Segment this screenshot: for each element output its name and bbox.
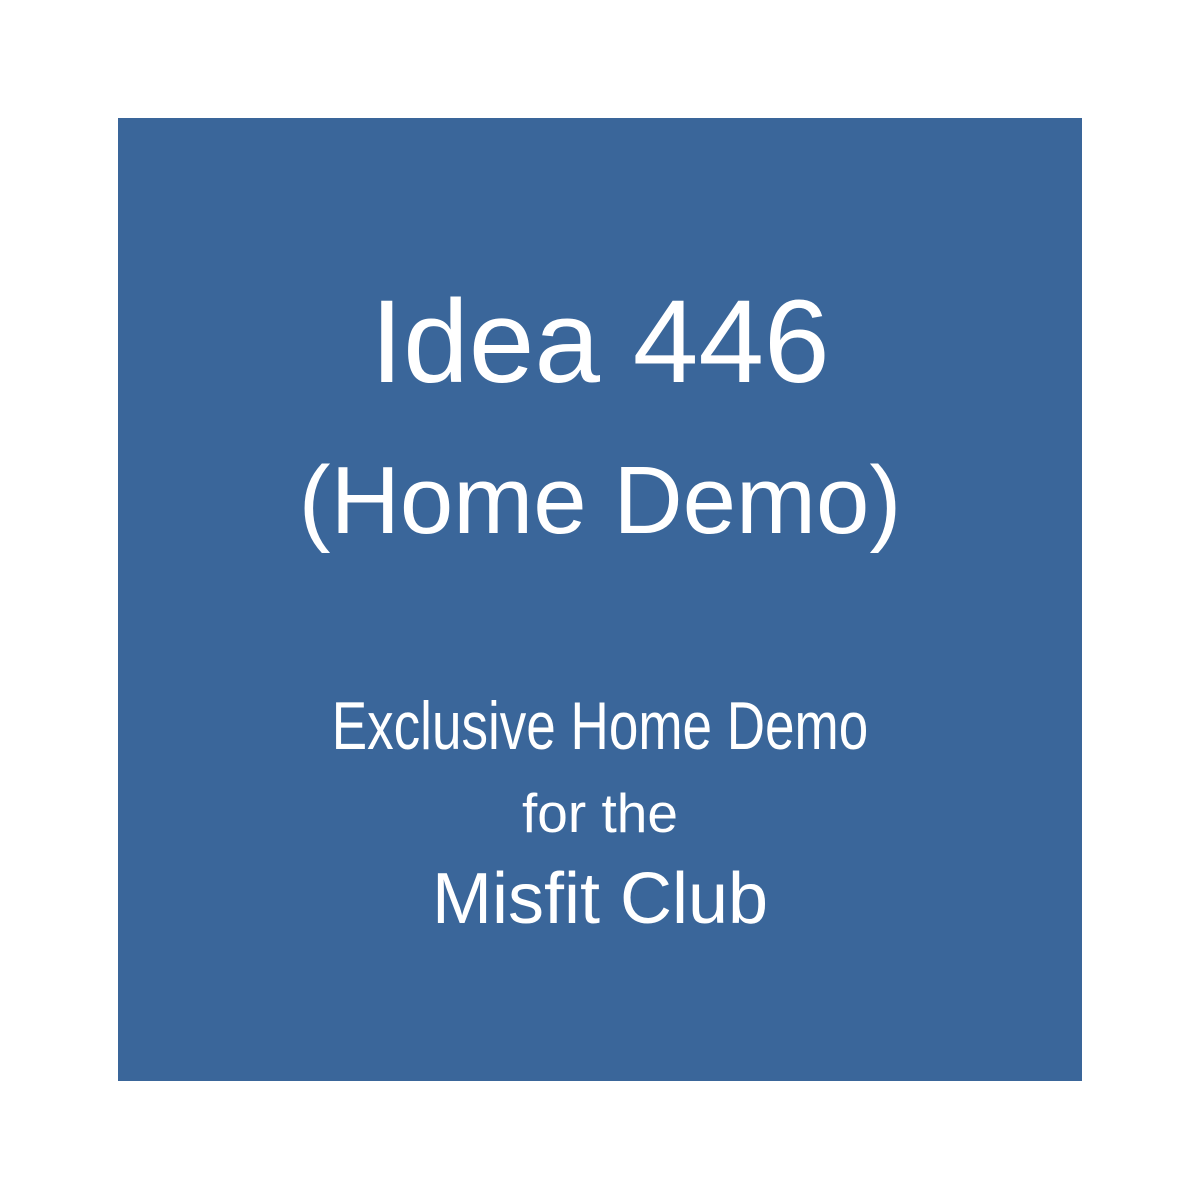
body-block: Exclusive Home Demo for the Misfit Club	[118, 692, 1082, 935]
body-line-club-name: Misfit Club	[118, 863, 1082, 935]
body-line-connector: for the	[118, 786, 1082, 841]
page-title: Idea 446	[118, 283, 1082, 401]
body-line-headline: Exclusive Home Demo	[224, 692, 976, 760]
title-block: Idea 446 (Home Demo)	[118, 283, 1082, 549]
slide-canvas: Idea 446 (Home Demo) Exclusive Home Demo…	[0, 0, 1200, 1200]
slide-panel: Idea 446 (Home Demo) Exclusive Home Demo…	[118, 118, 1082, 1081]
page-subtitle: (Home Demo)	[118, 453, 1082, 549]
